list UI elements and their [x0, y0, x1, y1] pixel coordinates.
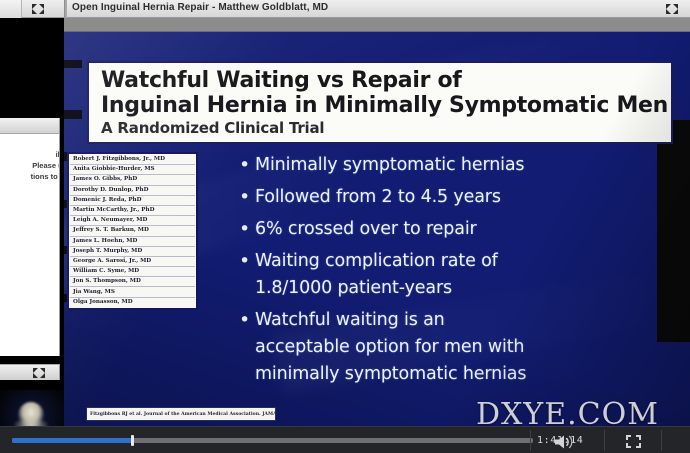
slide-stage[interactable]: Watchful Waiting vs Repair of Inguinal H… [64, 32, 690, 426]
player-titlebar: Open Inguinal Hernia Repair - Matthew Go… [0, 0, 690, 18]
titlebar-divider [64, 0, 67, 18]
slide-title-line-1: Watchful Waiting vs Repair of [101, 68, 662, 93]
seek-bar-handle[interactable] [131, 435, 134, 446]
author-row: Dorothy D. Dunlop, PhD [70, 186, 195, 196]
author-row: Leigh A. Neumayer, MD [70, 216, 195, 226]
compression-band [64, 60, 82, 68]
bullet-line: Watchful waiting is an [255, 307, 526, 334]
side-panel-line-3: tions to the [0, 171, 60, 182]
bullet-item: •Watchful waiting is anacceptable option… [239, 307, 669, 388]
slide-subtitle: A Randomized Clinical Trial [101, 119, 662, 137]
slide-citation-text: Fitzgibbons RJ et al. Journal of the Ame… [87, 408, 275, 419]
author-row: Jon S. Thompson, MD [70, 277, 195, 287]
slide-title-card: Watchful Waiting vs Repair of Inguinal H… [87, 61, 673, 144]
author-row: Robert J. Fitzgibbons, Jr., MD [70, 155, 195, 165]
bullet-marker-icon: • [239, 184, 255, 211]
collapse-icon-right[interactable] [665, 3, 679, 15]
author-row: James L. Hoehn, MD [70, 237, 195, 247]
seek-bar[interactable] [12, 438, 533, 443]
side-panel: y ility: Please use tions to the [0, 18, 64, 355]
author-row: William C. Syme, MD [70, 267, 195, 277]
bullet-line: Minimally symptomatic hernias [255, 152, 524, 179]
video-title: Open Inguinal Hernia Repair - Matthew Go… [72, 2, 328, 13]
side-panel-text: y ility: Please use tions to the [0, 138, 60, 182]
control-separator [661, 430, 662, 451]
side-panel-line-2: Please use [0, 160, 60, 171]
slide-citation-box: Fitzgibbons RJ et al. Journal of the Ame… [86, 407, 276, 421]
bullet-text: Followed from 2 to 4.5 years [255, 184, 501, 211]
author-row: Jeffrey S. T. Barkun, MD [70, 226, 195, 236]
bullet-text: Waiting complication rate of1.8/1000 pat… [255, 248, 498, 302]
bullet-item: •Waiting complication rate of1.8/1000 pa… [239, 248, 669, 302]
video-player-window: Open Inguinal Hernia Repair - Matthew Go… [0, 0, 690, 453]
bullet-item: •Minimally symptomatic hernias [239, 152, 669, 179]
side-panel-line-0: y [0, 138, 60, 149]
titlebar-grey-strip [64, 18, 690, 32]
bullet-line: Waiting complication rate of [255, 248, 498, 275]
bullet-item: •Followed from 2 to 4.5 years [239, 184, 669, 211]
author-row: Domenic J. Reda, PhD [70, 196, 195, 206]
bullet-text: Watchful waiting is anacceptable option … [255, 307, 526, 388]
bullet-marker-icon: • [239, 248, 255, 275]
side-panel-line-1: ility: [0, 149, 60, 160]
bullet-marker-icon: • [239, 216, 255, 243]
volume-icon [554, 434, 576, 450]
bullet-text: Minimally symptomatic hernias [255, 152, 524, 179]
author-row: Jia Wang, MS [70, 287, 195, 297]
bullet-line: minimally symptomatic hernias [255, 361, 526, 388]
compression-band [64, 110, 82, 119]
side-panel-header [0, 118, 60, 134]
author-row: James O. Gibbs, PhD [70, 175, 195, 185]
collapse-icon[interactable] [31, 3, 45, 15]
author-row: Martin McCarthy, Jr., PhD [70, 206, 195, 216]
volume-button[interactable] [545, 432, 585, 450]
bullet-line: 1.8/1000 patient-years [255, 275, 498, 302]
bullet-line: acceptable option for men with [255, 334, 526, 361]
control-separator [530, 430, 531, 451]
side-panel-body[interactable]: y ility: Please use tions to the [0, 134, 60, 356]
author-list: Robert J. Fitzgibbons, Jr., MDAnita Giob… [67, 152, 198, 310]
bullet-text: 6% crossed over to repair [255, 216, 477, 243]
author-row: Anita Giobbie-Hurder, MS [70, 165, 195, 175]
fullscreen-icon [626, 435, 641, 448]
control-separator [604, 430, 605, 451]
bullet-marker-icon: • [239, 152, 255, 179]
side-panel-footer [0, 364, 60, 380]
player-control-bar: 1:41:14 [0, 426, 690, 453]
fullscreen-button[interactable] [615, 432, 653, 450]
author-row: Joseph T. Murphy, MD [70, 247, 195, 257]
slide-bullet-list: •Minimally symptomatic hernias•Followed … [239, 152, 669, 393]
collapse-icon-side-panel[interactable] [32, 367, 46, 379]
bullet-marker-icon: • [239, 307, 255, 334]
bullet-line: 6% crossed over to repair [255, 216, 477, 243]
slide-title-line-2: Inguinal Hernia in Minimally Symptomatic… [101, 93, 662, 118]
author-row: Olga Jonasson, MD [70, 298, 195, 307]
seek-bar-fill [12, 438, 132, 443]
bullet-item: •6% crossed over to repair [239, 216, 669, 243]
titlebar-left-pane [0, 0, 22, 18]
bullet-line: Followed from 2 to 4.5 years [255, 184, 501, 211]
author-row: George A. Sarosi, Jr., MD [70, 257, 195, 267]
